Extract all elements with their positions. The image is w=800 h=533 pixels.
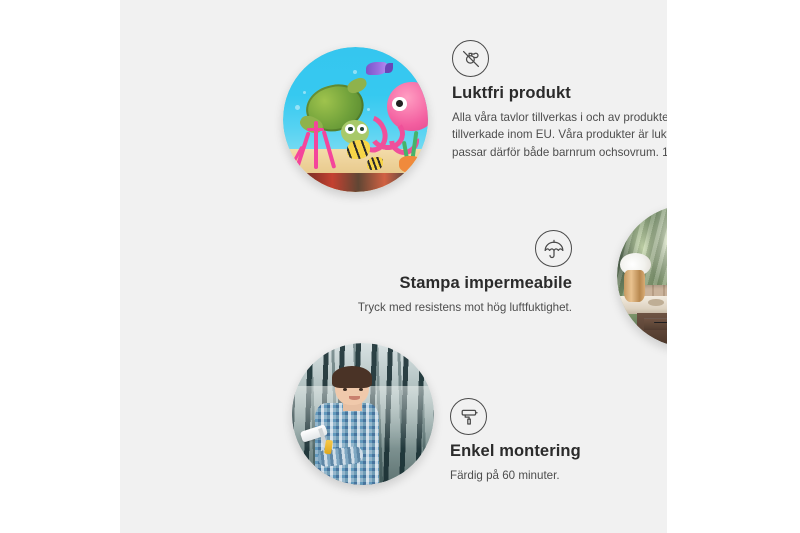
feature-waterproof: Stampa impermeabile Tryck med resistens … bbox=[310, 230, 572, 316]
gold-vase bbox=[624, 270, 645, 301]
feature-odourless: Luktfri produkt Alla våra tavlor tillver… bbox=[452, 40, 667, 162]
no-fragrance-spray-bottle-icon bbox=[452, 40, 489, 77]
vanity-drawer bbox=[644, 318, 667, 331]
feature-title: Enkel montering bbox=[450, 442, 667, 462]
painter-woman-forest-mural-photo bbox=[292, 343, 434, 485]
soap-dish bbox=[648, 299, 664, 306]
underwater-cartoon-mural-photo bbox=[283, 47, 428, 192]
bathroom-tropical-wallpaper-photo bbox=[617, 205, 667, 347]
drawer-handle bbox=[654, 322, 667, 323]
woman-smile bbox=[349, 396, 360, 400]
bubble bbox=[303, 91, 306, 94]
infographic-panel: Luktfri produkt Alla våra tavlor tillver… bbox=[120, 0, 667, 533]
feature-title: Luktfri produkt bbox=[452, 84, 667, 104]
yellow-tool bbox=[324, 439, 333, 454]
pink-coral bbox=[293, 121, 345, 169]
octopus-eye bbox=[392, 97, 407, 112]
woman-hair bbox=[332, 366, 372, 389]
product-feature-infographic: Luktfri produkt Alla våra tavlor tillver… bbox=[0, 0, 800, 533]
feature-title: Stampa impermeabile bbox=[310, 274, 572, 294]
starfish bbox=[399, 156, 425, 173]
wood-vanity-cabinet bbox=[637, 313, 667, 347]
bubble bbox=[295, 105, 300, 110]
photo-bottom-strip bbox=[283, 173, 428, 192]
bubble bbox=[367, 108, 370, 111]
butterfly-fish bbox=[347, 140, 370, 159]
feature-body: Färdig på 60 minuter. bbox=[450, 467, 667, 485]
feature-body: Tryck med resistens mot hög luftfuktighe… bbox=[310, 299, 572, 317]
paint-roller-icon bbox=[450, 398, 487, 435]
feature-body: Alla våra tavlor tillverkas i och av pro… bbox=[452, 109, 667, 162]
bubble bbox=[353, 70, 357, 74]
umbrella-icon bbox=[535, 230, 572, 267]
feature-assembly: Enkel montering Färdig på 60 minuter. bbox=[450, 398, 667, 484]
